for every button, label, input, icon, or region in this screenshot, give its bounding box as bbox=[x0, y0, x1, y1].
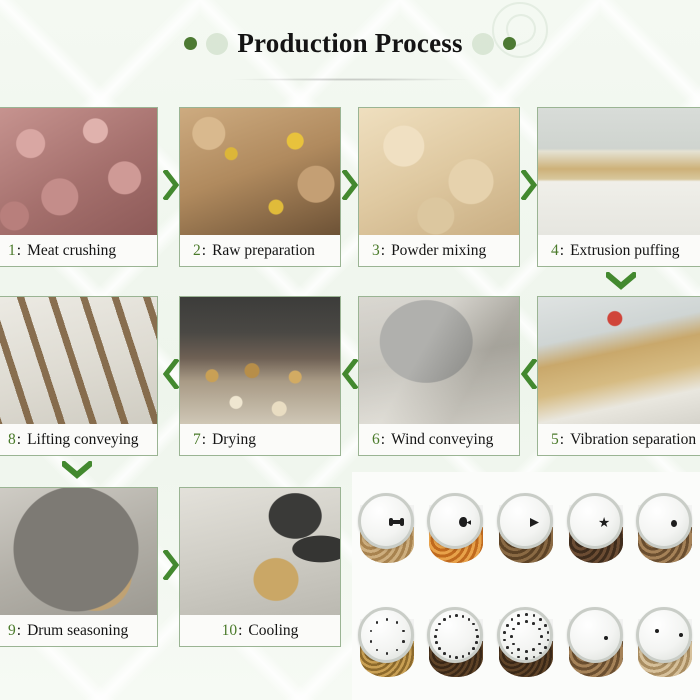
step-card-1[interactable]: 1 : Meat crushing bbox=[0, 107, 158, 267]
step-label-7: 7 : Drying bbox=[180, 424, 340, 455]
die-jar bbox=[425, 607, 487, 679]
arrow-6-to-7 bbox=[342, 359, 358, 389]
step-label-9: 9 : Drum seasoning bbox=[0, 615, 157, 646]
arrow-4-to-5 bbox=[606, 272, 636, 290]
step-card-6[interactable]: 6 : Wind conveying bbox=[358, 296, 520, 456]
step-label-5: 5 : Vibration separation bbox=[538, 424, 700, 455]
step-separator-1: : bbox=[17, 242, 21, 260]
die-jar bbox=[634, 607, 696, 679]
title-underline bbox=[232, 78, 470, 81]
die-cell-star[interactable] bbox=[561, 472, 631, 586]
step-text-6: Wind conveying bbox=[391, 431, 493, 449]
step-text-4: Extrusion puffing bbox=[570, 242, 680, 260]
step-card-5[interactable]: 5 : Vibration separation bbox=[537, 296, 700, 456]
step-text-8: Lifting conveying bbox=[27, 431, 139, 449]
die-jar bbox=[565, 607, 627, 679]
decorative-dot-left-ghost bbox=[206, 33, 228, 55]
step-separator-6: : bbox=[381, 431, 385, 449]
step-number-7: 7 bbox=[193, 431, 201, 449]
meat-crushing-photo bbox=[0, 108, 157, 235]
step-separator-7: : bbox=[202, 431, 206, 449]
extrusion-puffing-photo bbox=[538, 108, 700, 235]
step-label-2: 2 : Raw preparation bbox=[180, 235, 340, 266]
arrow-8-to-9 bbox=[62, 461, 92, 479]
arrow-5-to-6 bbox=[521, 359, 537, 389]
die-plate-small-round-icon bbox=[636, 493, 692, 549]
die-plate-bone-icon bbox=[358, 493, 414, 549]
die-plate-star-icon bbox=[567, 493, 623, 549]
die-jar bbox=[565, 493, 627, 565]
arrow-2-to-3 bbox=[342, 170, 358, 200]
die-cell-ring-10-holes[interactable] bbox=[352, 586, 422, 700]
step-card-2[interactable]: 2 : Raw preparation bbox=[179, 107, 341, 267]
step-number-1: 1 bbox=[8, 242, 16, 260]
step-number-3: 3 bbox=[372, 242, 380, 260]
step-label-6: 6 : Wind conveying bbox=[359, 424, 519, 455]
step-text-2: Raw preparation bbox=[212, 242, 315, 260]
step-number-9: 9 bbox=[8, 622, 16, 640]
step-card-3[interactable]: 3 : Powder mixing bbox=[358, 107, 520, 267]
die-cell-triangle[interactable] bbox=[491, 472, 561, 586]
step-card-4[interactable]: 4 : Extrusion puffing bbox=[537, 107, 700, 267]
step-number-10: 10 bbox=[222, 622, 238, 640]
die-plate-single-pinhole-icon bbox=[567, 607, 623, 663]
arrow-9-to-10 bbox=[163, 550, 179, 580]
decorative-dot-left-solid bbox=[184, 37, 197, 50]
die-cell-ring-30-holes[interactable] bbox=[491, 586, 561, 700]
step-text-1: Meat crushing bbox=[27, 242, 116, 260]
die-jar bbox=[634, 493, 696, 565]
drum-seasoning-photo bbox=[0, 488, 157, 615]
arrow-1-to-2 bbox=[163, 170, 179, 200]
step-number-6: 6 bbox=[372, 431, 380, 449]
raw-preparation-photo bbox=[180, 108, 340, 235]
die-plate-ring-30-holes-icon bbox=[497, 607, 553, 663]
die-cell-fish[interactable] bbox=[422, 472, 492, 586]
step-label-1: 1 : Meat crushing bbox=[0, 235, 157, 266]
step-label-4: 4 : Extrusion puffing bbox=[538, 235, 700, 266]
decorative-dot-right-ghost bbox=[472, 33, 494, 55]
page-title: Production Process bbox=[237, 28, 462, 59]
step-separator-4: : bbox=[560, 242, 564, 260]
step-label-3: 3 : Powder mixing bbox=[359, 235, 519, 266]
step-card-10[interactable]: 10 : Cooling bbox=[179, 487, 341, 647]
step-label-8: 8 : Lifting conveying bbox=[0, 424, 157, 455]
die-cell-twin-pinhole[interactable] bbox=[630, 586, 700, 700]
cooling-photo bbox=[180, 488, 340, 615]
die-jar bbox=[495, 607, 557, 679]
step-card-7[interactable]: 7 : Drying bbox=[179, 296, 341, 456]
die-cell-ring-20-holes[interactable] bbox=[422, 586, 492, 700]
step-number-2: 2 bbox=[193, 242, 201, 260]
arrow-3-to-4 bbox=[521, 170, 537, 200]
step-label-10: 10 : Cooling bbox=[180, 615, 340, 646]
step-separator-9: : bbox=[17, 622, 21, 640]
step-text-3: Powder mixing bbox=[391, 242, 486, 260]
die-cell-small-round[interactable] bbox=[630, 472, 700, 586]
step-separator-3: : bbox=[381, 242, 385, 260]
die-jar bbox=[425, 493, 487, 565]
drying-photo bbox=[180, 297, 340, 424]
step-number-4: 4 bbox=[551, 242, 559, 260]
step-separator-10: : bbox=[238, 622, 242, 640]
lifting-conveying-photo bbox=[0, 297, 157, 424]
die-plate-twin-pinhole-icon bbox=[636, 607, 692, 663]
vibration-separation-photo bbox=[538, 297, 700, 424]
die-plate-ring-20-holes-icon bbox=[427, 607, 483, 663]
die-cell-bone[interactable] bbox=[352, 472, 422, 586]
step-separator-2: : bbox=[202, 242, 206, 260]
step-separator-5: : bbox=[560, 431, 564, 449]
step-number-5: 5 bbox=[551, 431, 559, 449]
product-die-grid bbox=[352, 472, 700, 700]
page-header: Production Process bbox=[0, 28, 700, 59]
step-number-8: 8 bbox=[8, 431, 16, 449]
step-text-5: Vibration separation bbox=[570, 431, 696, 449]
die-plate-ring-10-holes-icon bbox=[358, 607, 414, 663]
step-text-9: Drum seasoning bbox=[27, 622, 128, 640]
powder-mixing-photo bbox=[359, 108, 519, 235]
die-plate-triangle-icon bbox=[497, 493, 553, 549]
arrow-7-to-8 bbox=[163, 359, 179, 389]
step-text-7: Drying bbox=[212, 431, 256, 449]
die-cell-single-pinhole[interactable] bbox=[561, 586, 631, 700]
die-jar bbox=[495, 493, 557, 565]
die-jar bbox=[356, 607, 418, 679]
decorative-dot-right-solid bbox=[503, 37, 516, 50]
die-jar bbox=[356, 493, 418, 565]
wind-conveying-photo bbox=[359, 297, 519, 424]
step-card-8[interactable]: 8 : Lifting conveying bbox=[0, 296, 158, 456]
step-separator-8: : bbox=[17, 431, 21, 449]
die-plate-fish-icon bbox=[427, 493, 483, 549]
step-card-9[interactable]: 9 : Drum seasoning bbox=[0, 487, 158, 647]
step-text-10: Cooling bbox=[248, 622, 298, 640]
